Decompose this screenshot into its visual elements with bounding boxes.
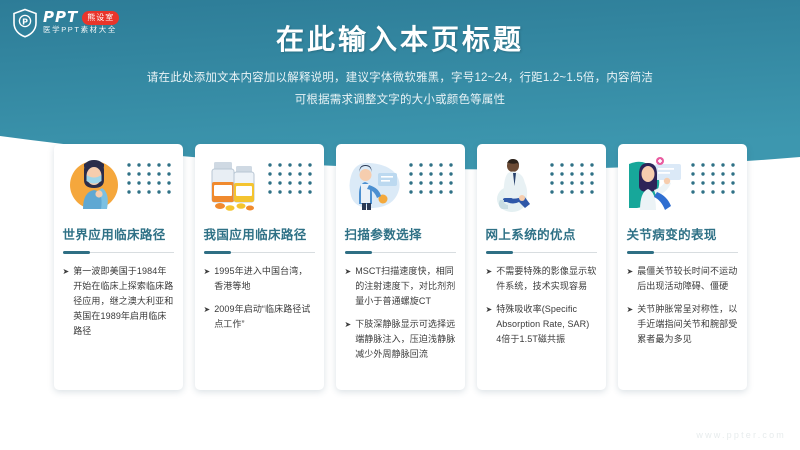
arrow-bullet-icon: ➤ [486,264,493,279]
card-title: 关节病变的表现 [627,228,738,243]
bullet-text: 关节肿胀常呈对称性，以手近端指间关节和腕部受累者最为多见 [637,302,737,347]
shield-p-icon: P [12,8,38,38]
page-subtitle-line2: 可根据需求调整文字的大小或颜色等属性 [0,90,800,112]
card-divider [486,251,597,254]
nurse-with-mask-illustration [63,154,125,214]
dot-grid-icon [126,162,174,198]
bullet-item: ➤ 不需要特殊的影像显示软件系统，技术实现容易 [486,264,597,294]
card-title: 我国应用临床路径 [204,228,315,243]
dot-grid-icon [690,162,738,198]
card-header [486,154,597,216]
content-card[interactable]: 我国应用临床路径 ➤ 1995年进入中国台湾，香港等地 ➤ 2009年启动“临床… [195,144,324,390]
dot-grid-icon [549,162,597,198]
card-bullets: ➤ 晨僵关节较长时间不运动后出现活动障碍、僵硬 ➤ 关节肿胀常呈对称性，以手近端… [627,264,738,347]
arrow-bullet-icon: ➤ [345,317,352,332]
medicine-bottles-illustration [204,154,266,214]
card-header [627,154,738,216]
brand-subtitle: 医学PPT素材大全 [43,26,119,34]
bullet-item: ➤ 第一波即美国于1984年开始在临床上探索临床路径应用，继之澳大利亚和英国在1… [63,264,174,339]
content-card[interactable]: 关节病变的表现 ➤ 晨僵关节较长时间不运动后出现活动障碍、僵硬 ➤ 关节肿胀常呈… [618,144,747,390]
content-card[interactable]: 扫描参数选择 ➤ MSCT扫描速度快，相同的注射速度下，对比剂剂量小于普通螺旋C… [336,144,465,390]
bullet-text: 1995年进入中国台湾，香港等地 [214,264,314,294]
doctor-scanner-illustration [345,154,407,214]
arrow-bullet-icon: ➤ [204,302,211,317]
card-divider [204,251,315,254]
brand-logo[interactable]: P PPT 熊设室 医学PPT素材大全 [12,8,119,38]
card-bullets: ➤ MSCT扫描速度快，相同的注射速度下，对比剂剂量小于普通螺旋CT ➤ 下肢深… [345,264,456,362]
page-title: 在此输入本页标题 [0,18,800,58]
card-divider [345,251,456,254]
card-divider [63,251,174,254]
brand-badge: 熊设室 [82,11,119,25]
card-bullets: ➤ 不需要特殊的影像显示软件系统，技术实现容易 ➤ 特殊吸收率(Specific… [486,264,597,347]
page-subtitle: 请在此处添加文本内容加以解释说明，建议字体微软雅黑，字号12~24，行距1.2~… [0,68,800,112]
bullet-text: 下肢深静脉显示可选择远端静脉注入，压迫浅静脉减少外周静脉回流 [355,317,455,362]
card-title: 世界应用临床路径 [63,228,174,243]
page-subtitle-line1: 请在此处添加文本内容加以解释说明，建议字体微软雅黑，字号12~24，行距1.2~… [0,68,800,90]
card-bullets: ➤ 1995年进入中国台湾，香港等地 ➤ 2009年启动“临床路径试点工作” [204,264,315,332]
doctor-sitting-illustration [486,154,548,214]
card-header [204,154,315,216]
nurse-with-screen-illustration [627,154,689,214]
site-watermark: www.ppter.com [696,430,786,440]
bullet-text: 特殊吸收率(Specific Absorption Rate, SAR) 4倍于… [496,302,596,347]
svg-text:P: P [22,18,28,27]
bullet-text: 第一波即美国于1984年开始在临床上探索临床路径应用，继之澳大利亚和英国在198… [73,264,173,339]
bullet-item: ➤ 关节肿胀常呈对称性，以手近端指间关节和腕部受累者最为多见 [627,302,738,347]
slide-canvas: P PPT 熊设室 医学PPT素材大全 在此输入本页标题 请在此处添加文本内容加… [0,0,800,450]
arrow-bullet-icon: ➤ [486,302,493,317]
card-list: 世界应用临床路径 ➤ 第一波即美国于1984年开始在临床上探索临床路径应用，继之… [0,144,800,390]
bullet-item: ➤ 特殊吸收率(Specific Absorption Rate, SAR) 4… [486,302,597,347]
arrow-bullet-icon: ➤ [627,302,634,317]
bullet-item: ➤ MSCT扫描速度快，相同的注射速度下，对比剂剂量小于普通螺旋CT [345,264,456,309]
card-header [63,154,174,216]
dot-grid-icon [408,162,456,198]
bullet-text: 不需要特殊的影像显示软件系统，技术实现容易 [496,264,596,294]
arrow-bullet-icon: ➤ [204,264,211,279]
card-bullets: ➤ 第一波即美国于1984年开始在临床上探索临床路径应用，继之澳大利亚和英国在1… [63,264,174,339]
arrow-bullet-icon: ➤ [63,264,70,279]
card-header [345,154,456,216]
content-card[interactable]: 网上系统的优点 ➤ 不需要特殊的影像显示软件系统，技术实现容易 ➤ 特殊吸收率(… [477,144,606,390]
brand-name: PPT [43,10,78,25]
bullet-text: MSCT扫描速度快，相同的注射速度下，对比剂剂量小于普通螺旋CT [355,264,455,309]
arrow-bullet-icon: ➤ [627,264,634,279]
bullet-text: 2009年启动“临床路径试点工作” [214,302,314,332]
arrow-bullet-icon: ➤ [345,264,352,279]
bullet-item: ➤ 下肢深静脉显示可选择远端静脉注入，压迫浅静脉减少外周静脉回流 [345,317,456,362]
bullet-item: ➤ 晨僵关节较长时间不运动后出现活动障碍、僵硬 [627,264,738,294]
bullet-item: ➤ 1995年进入中国台湾，香港等地 [204,264,315,294]
card-title: 扫描参数选择 [345,228,456,243]
card-divider [627,251,738,254]
content-card[interactable]: 世界应用临床路径 ➤ 第一波即美国于1984年开始在临床上探索临床路径应用，继之… [54,144,183,390]
dot-grid-icon [267,162,315,198]
card-title: 网上系统的优点 [486,228,597,243]
bullet-text: 晨僵关节较长时间不运动后出现活动障碍、僵硬 [637,264,737,294]
bullet-item: ➤ 2009年启动“临床路径试点工作” [204,302,315,332]
